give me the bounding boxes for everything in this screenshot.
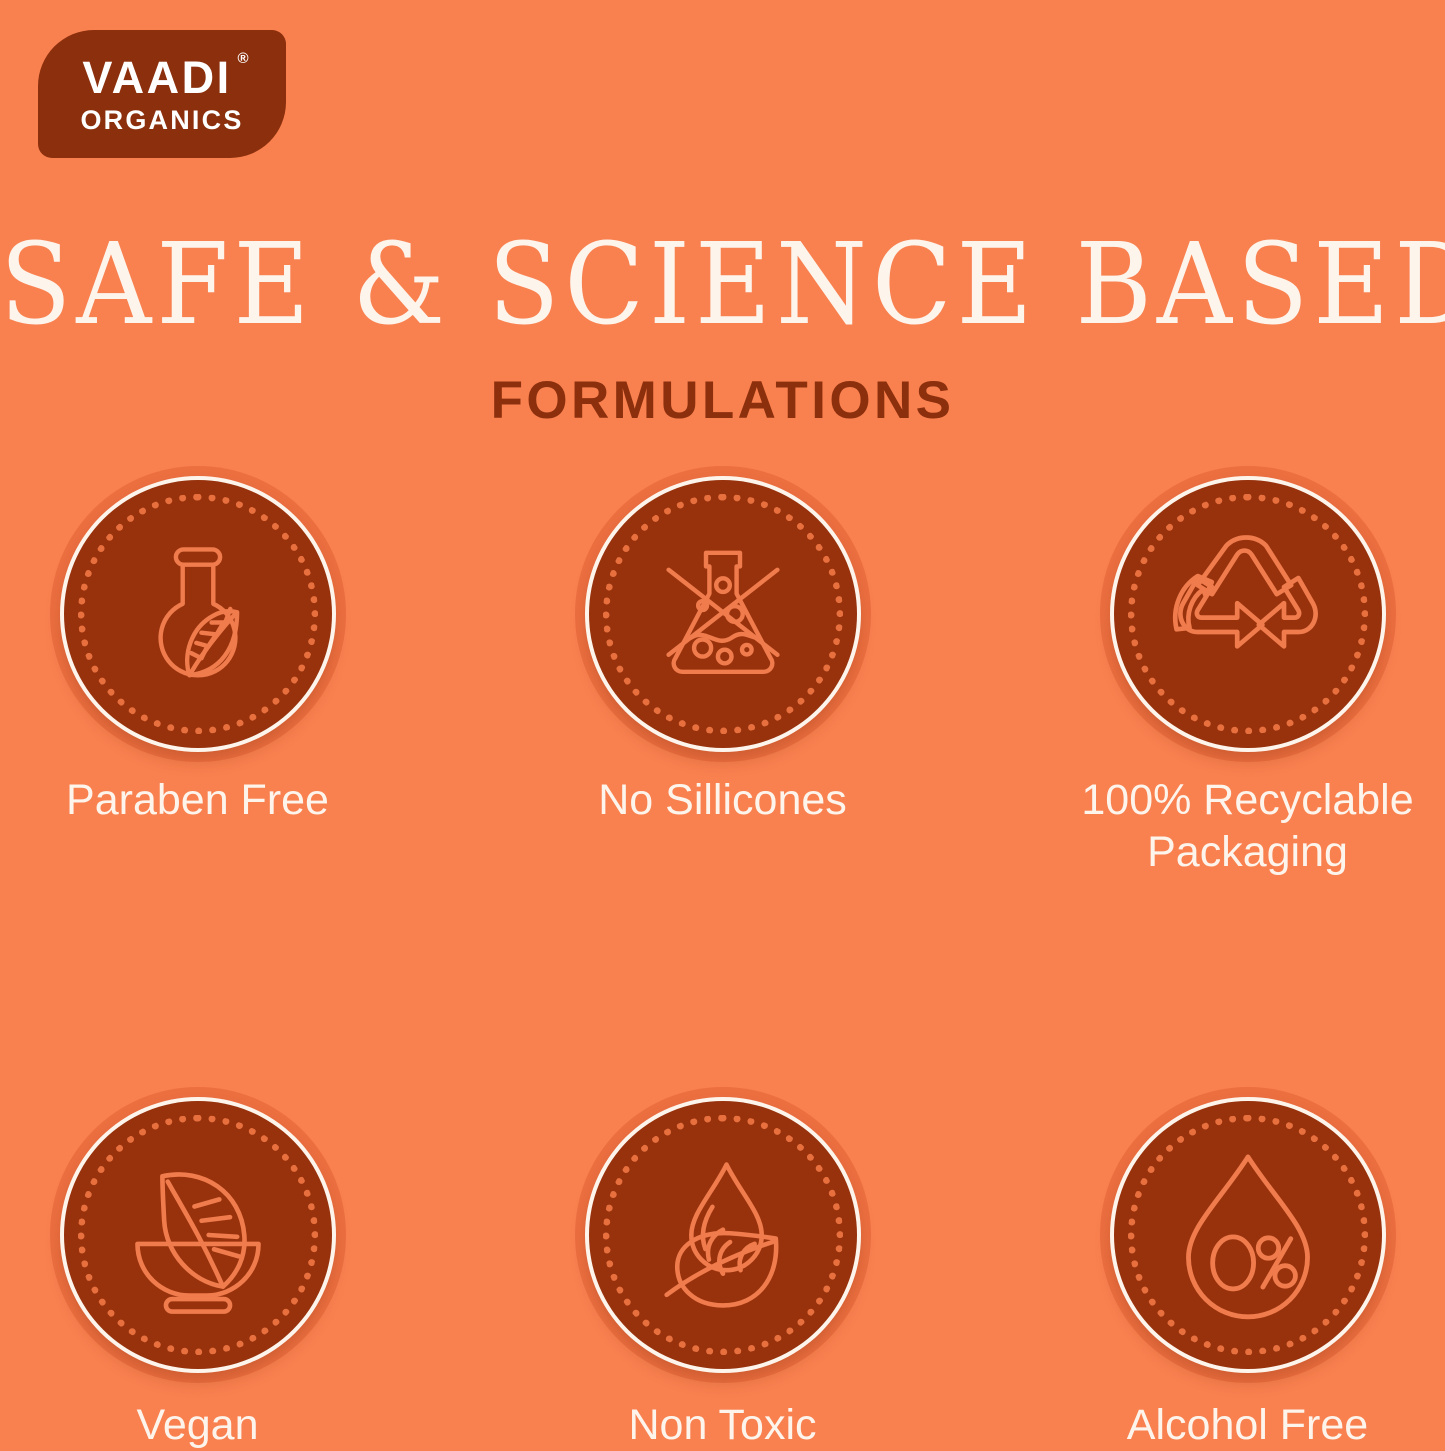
droplet-leaf-icon: [635, 1147, 811, 1323]
brand-logo: VAADI® ORGANICS: [38, 30, 286, 158]
feature-badge-grid: Paraben Free No Sillicones: [0, 480, 1445, 1451]
badge-label: 100% Recyclable Packaging: [1068, 774, 1428, 879]
badge-label: Non Toxic: [628, 1399, 816, 1451]
badge-circle: [64, 1101, 332, 1369]
badge-row-top: Paraben Free No Sillicones: [0, 480, 1445, 879]
droplet-zero-percent-icon: [1155, 1142, 1341, 1328]
badge-circle: [64, 480, 332, 748]
badge-item-paraben-free: Paraben Free: [18, 480, 378, 879]
badge-circle: [1114, 480, 1382, 748]
flask-leaf-icon: [113, 529, 283, 699]
badge-item-no-sillicones: No Sillicones: [543, 480, 903, 879]
brand-name: VAADI®: [82, 55, 241, 100]
page-title: SAFE & SCIENCE BASED: [0, 228, 1445, 340]
mortar-bowl-leaf-icon: [109, 1146, 287, 1324]
badge-label: Alcohol Free: [1127, 1399, 1368, 1451]
badge-row-bottom: Vegan Non Toxic: [0, 1101, 1445, 1451]
badge-item-alcohol-free: Alcohol Free: [1068, 1101, 1428, 1451]
badge-circle: [1114, 1101, 1382, 1369]
badge-item-recyclable-packaging: 100% Recyclable Packaging: [1068, 480, 1428, 879]
badge-label: No Sillicones: [598, 774, 847, 826]
badge-item-non-toxic: Non Toxic: [543, 1101, 903, 1451]
badge-label: Paraben Free: [66, 774, 329, 826]
flask-crossed-out-icon: [638, 529, 808, 699]
registered-trademark-icon: ®: [238, 51, 249, 66]
badge-item-vegan: Vegan: [18, 1101, 378, 1451]
badge-circle: [589, 480, 857, 748]
page-subtitle: FORMULATIONS: [0, 374, 1445, 427]
badge-label: Vegan: [137, 1399, 259, 1451]
badge-circle: [589, 1101, 857, 1369]
recycling-arrows-icon: [1158, 524, 1338, 704]
brand-tagline: ORGANICS: [80, 107, 243, 134]
brand-name-text: VAADI: [82, 52, 231, 103]
